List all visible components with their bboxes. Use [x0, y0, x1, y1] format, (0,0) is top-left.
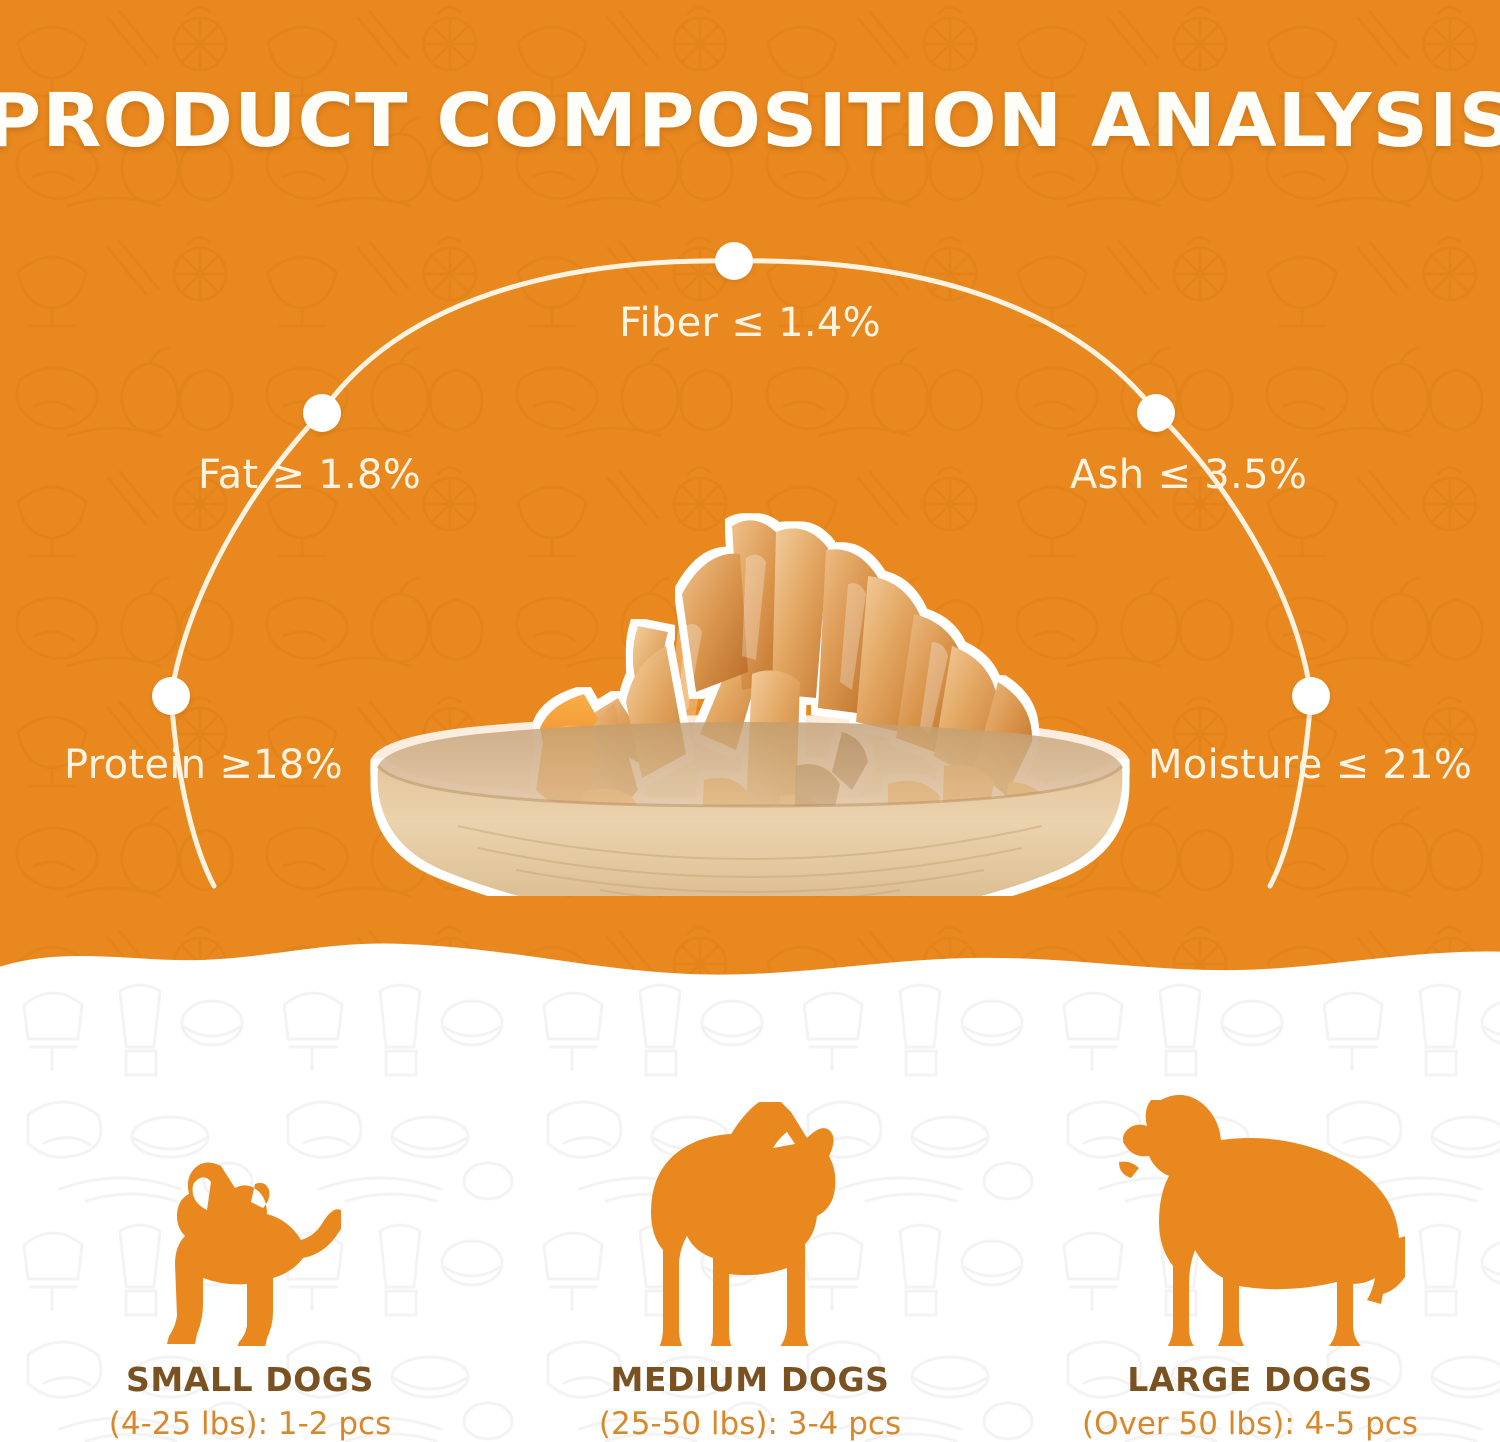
- composition-panel: PRODUCT COMPOSITION ANALYSIS Fiber ≤ 1.4…: [0, 0, 1500, 1020]
- small-dog-silhouette-icon: [159, 1150, 341, 1346]
- node-ash: [1137, 394, 1175, 432]
- nutrient-label-fiber: Fiber ≤ 1.4%: [0, 300, 1500, 346]
- medium-dog-title: MEDIUM DOGS: [610, 1360, 889, 1399]
- feeding-guide-column-medium: MEDIUM DOGS (25-50 lbs): 3-4 pcs: [500, 1030, 1000, 1442]
- large-dog-silhouette-icon: [1095, 1090, 1405, 1346]
- feeding-guide: SMALL DOGS (4-25 lbs): 1-2 pcs MEDIUM DO…: [0, 1030, 1500, 1442]
- node-protein: [152, 677, 190, 715]
- arc-moisture-tail: [1270, 696, 1311, 886]
- page-title: PRODUCT COMPOSITION ANALYSIS: [0, 78, 1500, 164]
- infographic-root: PRODUCT COMPOSITION ANALYSIS Fiber ≤ 1.4…: [0, 0, 1500, 1442]
- medium-dog-silhouette-icon: [641, 1102, 859, 1346]
- node-fiber: [715, 242, 753, 280]
- nutrient-label-moisture: Moisture ≤ 21%: [1148, 742, 1472, 788]
- medium-dog-detail: (25-50 lbs): 3-4 pcs: [599, 1406, 901, 1442]
- large-dog-detail: (Over 50 lbs): 4-5 pcs: [1082, 1406, 1418, 1442]
- feeding-guide-column-large: LARGE DOGS (Over 50 lbs): 4-5 pcs: [1000, 1030, 1500, 1442]
- small-dog-title: SMALL DOGS: [126, 1360, 374, 1399]
- feeding-guide-column-small: SMALL DOGS (4-25 lbs): 1-2 pcs: [0, 1030, 500, 1442]
- product-photo: [348, 466, 1152, 896]
- nutrient-label-protein: Protein ≥18%: [64, 742, 343, 788]
- large-dog-title: LARGE DOGS: [1127, 1360, 1372, 1399]
- node-moisture: [1292, 677, 1330, 715]
- arc-protein-tail: [171, 696, 214, 886]
- small-dog-detail: (4-25 lbs): 1-2 pcs: [109, 1406, 392, 1442]
- node-fat: [303, 394, 341, 432]
